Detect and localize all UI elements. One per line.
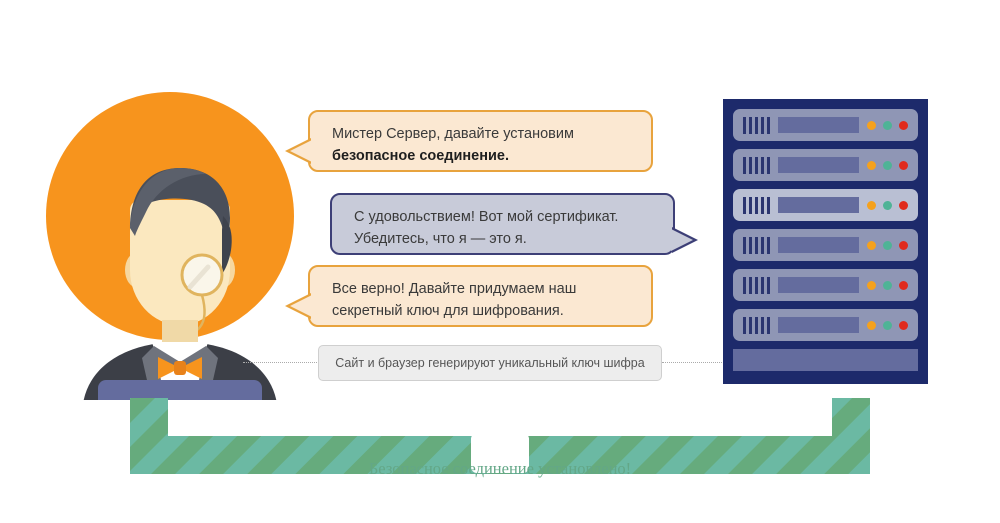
drive-slot	[778, 197, 859, 213]
server-unit	[733, 269, 918, 301]
server-unit	[733, 189, 918, 221]
led-red-icon	[899, 161, 908, 170]
server-unit	[733, 229, 918, 261]
server-unit	[733, 149, 918, 181]
dotted-line-left	[243, 362, 319, 363]
vent-icon	[743, 237, 770, 254]
led-red-icon	[899, 201, 908, 210]
drive-slot	[778, 157, 859, 173]
led-green-icon	[883, 241, 892, 250]
drive-slot	[778, 317, 859, 333]
bubble-tail	[290, 295, 312, 317]
vent-icon	[743, 317, 770, 334]
led-red-icon	[899, 321, 908, 330]
bubble-tail	[290, 140, 312, 162]
padlock-shackle	[474, 397, 526, 437]
vent-icon	[743, 157, 770, 174]
bubble-tail	[671, 229, 693, 251]
led-orange-icon	[867, 281, 876, 290]
key-generation-callout: Сайт и браузер генерируют уникальный клю…	[318, 345, 662, 381]
server-unit	[733, 309, 918, 341]
vent-icon	[743, 117, 770, 134]
led-red-icon	[899, 281, 908, 290]
vent-icon	[743, 277, 770, 294]
key-generation-text: Сайт и браузер генерируют уникальный клю…	[335, 356, 644, 370]
infographic-canvas: Мистер Сервер, давайте установим безопас…	[0, 0, 1000, 523]
led-orange-icon	[867, 201, 876, 210]
server-unit	[733, 109, 918, 141]
drive-slot	[778, 237, 859, 253]
led-orange-icon	[867, 161, 876, 170]
led-green-icon	[883, 161, 892, 170]
server-base-bar	[733, 349, 918, 371]
status-leds	[867, 201, 908, 210]
led-orange-icon	[867, 121, 876, 130]
led-orange-icon	[867, 321, 876, 330]
status-leds	[867, 281, 908, 290]
vent-icon	[743, 197, 770, 214]
status-leds	[867, 321, 908, 330]
status-leds	[867, 121, 908, 130]
caption-secure-connection: Безопасное соединение установлено!	[0, 459, 1000, 479]
status-leds	[867, 161, 908, 170]
led-orange-icon	[867, 241, 876, 250]
led-red-icon	[899, 241, 908, 250]
server-rack	[723, 99, 928, 384]
status-leds	[867, 241, 908, 250]
drive-slot	[778, 117, 859, 133]
dotted-line-right	[662, 362, 724, 363]
led-green-icon	[883, 201, 892, 210]
led-green-icon	[883, 321, 892, 330]
led-green-icon	[883, 281, 892, 290]
led-green-icon	[883, 121, 892, 130]
led-red-icon	[899, 121, 908, 130]
drive-slot	[778, 277, 859, 293]
